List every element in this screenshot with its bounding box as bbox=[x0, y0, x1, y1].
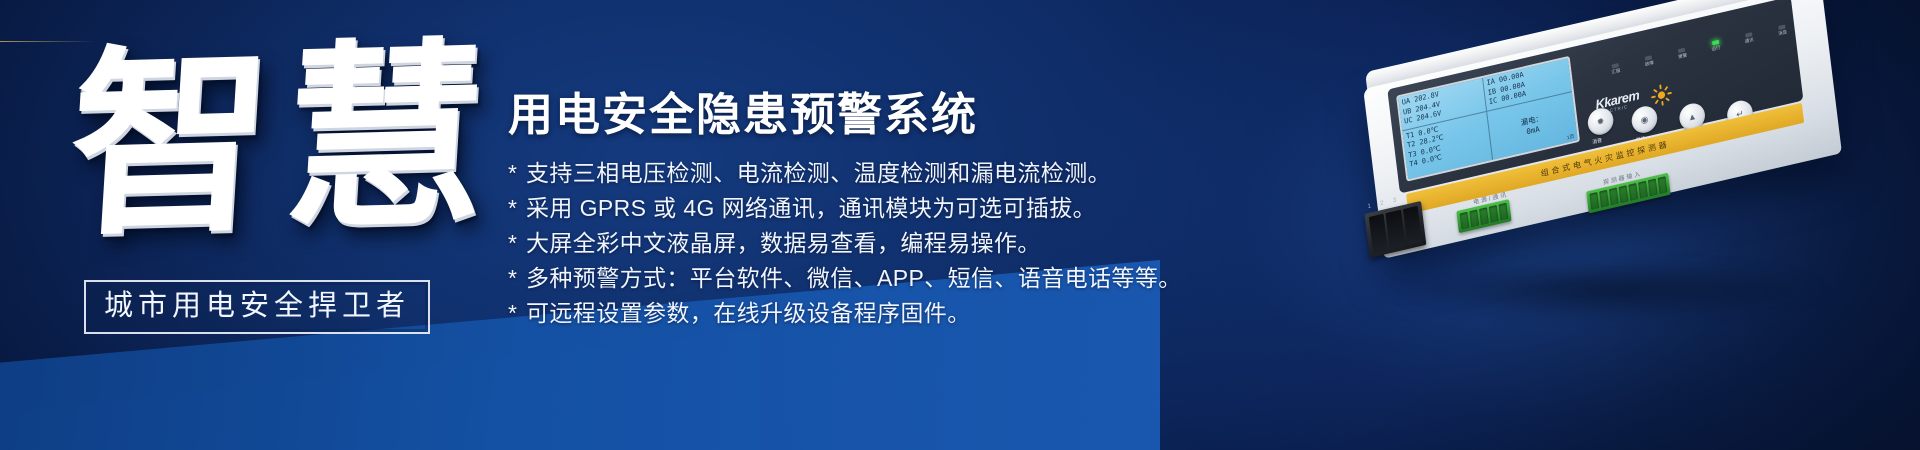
product-image: UA 202.8V UB 204.4V UC 204.6V IA 00.00A … bbox=[1342, 10, 1902, 350]
terminal-screw bbox=[1658, 176, 1668, 194]
terminal-screw bbox=[1628, 183, 1638, 201]
page-title: 用电安全隐患预警系统 bbox=[508, 86, 1308, 144]
list-item: *大屏全彩中文液晶屏，数据易查看，编程易操作。 bbox=[508, 226, 1308, 261]
bullet-marker-icon: * bbox=[508, 261, 526, 296]
list-item: *多种预警方式：平台软件、微信、APP、短信、语音电话等等。 bbox=[508, 261, 1308, 296]
mute-button-label: 消音 bbox=[1592, 137, 1603, 146]
feature-list: *支持三相电压检测、电流检测、温度检测和漏电流检测。 *采用 GPRS 或 4G… bbox=[508, 156, 1308, 331]
list-item: *采用 GPRS 或 4G 网络通讯，通讯模块为可选可插拔。 bbox=[508, 191, 1308, 226]
bullet-marker-icon: * bbox=[508, 226, 526, 261]
promo-banner: 智慧 城市用电安全捍卫者 用电安全隐患预警系统 *支持三相电压检测、电流检测、温… bbox=[0, 0, 1920, 450]
terminal-screw bbox=[1469, 210, 1479, 228]
mute-icon: ✹ bbox=[1596, 115, 1605, 128]
terminal-screw bbox=[1638, 181, 1648, 199]
status-led: 汇报 bbox=[1611, 63, 1621, 76]
bullet-marker-icon: * bbox=[508, 156, 526, 191]
feature-text: 采用 GPRS 或 4G 网络通讯，通讯模块为可选可插拔。 bbox=[526, 195, 1096, 221]
terminal-screw bbox=[1619, 185, 1629, 203]
status-led-row: 汇报 故障 报警 运行 通讯 消音 bbox=[1611, 24, 1788, 75]
terminal-screw bbox=[1460, 212, 1470, 230]
brand-calligraphy-block: 智慧 城市用电安全捍卫者 bbox=[72, 22, 492, 352]
feature-text: 支持三相电压检测、电流检测、温度检测和漏电流检测。 bbox=[526, 160, 1111, 186]
calligraphy-title: 智慧 bbox=[57, 11, 493, 272]
feature-text: 多种预警方式：平台软件、微信、APP、短信、语音电话等等。 bbox=[526, 265, 1182, 291]
tagline-label: 城市用电安全捍卫者 bbox=[104, 289, 410, 323]
connector-pin bbox=[1386, 210, 1405, 249]
terminal-screw bbox=[1479, 207, 1489, 225]
status-led: 消音 bbox=[1777, 24, 1787, 37]
status-led: 报警 bbox=[1677, 47, 1687, 60]
terminal-screw bbox=[1648, 179, 1658, 197]
device-unit: UA 202.8V UB 204.4V UC 204.6V IA 00.00A … bbox=[1363, 0, 1847, 299]
terminal-screw bbox=[1589, 192, 1599, 210]
reset-button[interactable]: ◉ bbox=[1630, 104, 1659, 136]
tagline-badge: 城市用电安全捍卫者 bbox=[84, 280, 430, 334]
reset-icon: ◉ bbox=[1640, 113, 1649, 126]
status-led: 故障 bbox=[1644, 55, 1654, 68]
feature-text: 可远程设置参数，在线升级设备程序固件。 bbox=[526, 300, 971, 326]
connector-pin bbox=[1403, 206, 1422, 245]
terminal-screw bbox=[1499, 203, 1509, 221]
list-item: *可远程设置参数，在线升级设备程序固件。 bbox=[508, 296, 1308, 331]
list-item: *支持三相电压检测、电流检测、温度检测和漏电流检测。 bbox=[508, 156, 1308, 191]
status-led: 通讯 bbox=[1744, 32, 1754, 45]
connector-pin bbox=[1369, 214, 1388, 253]
terminal-screw bbox=[1609, 188, 1619, 206]
marketing-copy: 用电安全隐患预警系统 *支持三相电压检测、电流检测、温度检测和漏电流检测。 *采… bbox=[508, 86, 1308, 331]
triangle-up-icon: ▲ bbox=[1687, 111, 1697, 123]
terminal-screw bbox=[1599, 190, 1609, 208]
bullet-marker-icon: * bbox=[508, 191, 526, 226]
status-led: 运行 bbox=[1711, 40, 1721, 53]
feature-text: 大屏全彩中文液晶屏，数据易查看，编程易操作。 bbox=[526, 230, 1041, 256]
terminal-screw bbox=[1489, 205, 1499, 223]
bullet-marker-icon: * bbox=[508, 296, 526, 331]
